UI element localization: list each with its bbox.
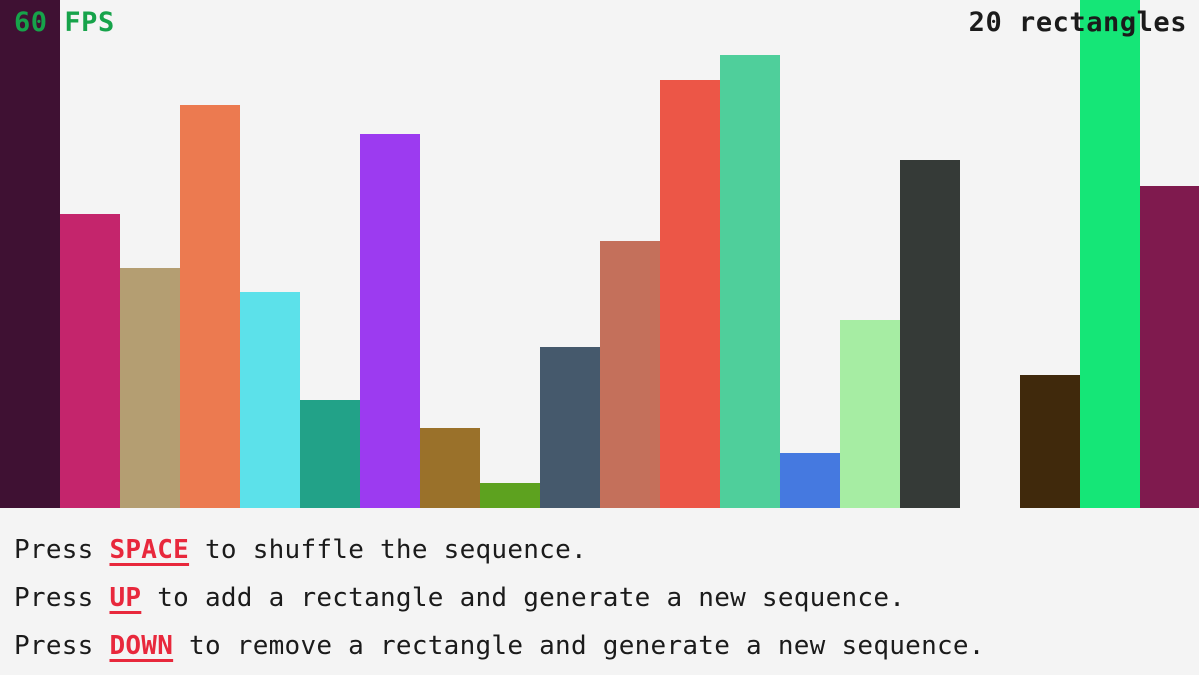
instruction-suffix: to remove a rectangle and generate a new… [173, 631, 985, 661]
chart-bar-magenta [60, 214, 120, 508]
instruction-prefix: Press [14, 583, 109, 613]
chart-bar-orange [180, 105, 240, 508]
key-hint-space[interactable]: SPACE [109, 535, 189, 565]
instruction-line-1: Press SPACE to shuffle the sequence. [0, 526, 1199, 574]
fps-counter: 60 FPS [14, 9, 115, 36]
chart-bar-cyan [240, 292, 300, 508]
chart-bar-brown [420, 428, 480, 508]
chart-bar-tan [120, 268, 180, 508]
instruction-prefix: Press [14, 535, 109, 565]
instructions-panel: Press SPACE to shuffle the sequence.Pres… [0, 508, 1199, 675]
instruction-suffix: to shuffle the sequence. [189, 535, 587, 565]
bar-chart-canvas[interactable] [0, 0, 1199, 508]
key-hint-down[interactable]: DOWN [109, 631, 173, 661]
chart-bar-charcoal [900, 160, 960, 508]
key-hint-up[interactable]: UP [109, 583, 141, 613]
chart-bar-dark-plum [0, 0, 60, 508]
chart-bar-spring-green [1080, 0, 1140, 508]
chart-bar-red [660, 80, 720, 508]
chart-bar-purple [360, 134, 420, 508]
chart-bar-blue [780, 453, 840, 508]
chart-bar-light-green [840, 320, 900, 508]
rectangle-visualizer-app: 60 FPS 20 rectangles Press SPACE to shuf… [0, 0, 1199, 675]
rectangle-count-label: 20 rectangles [969, 9, 1187, 36]
chart-bar-dark-brown [1020, 375, 1080, 508]
chart-bar-mint [720, 55, 780, 508]
instruction-line-2: Press UP to add a rectangle and generate… [0, 574, 1199, 622]
chart-bar-olive-green [480, 483, 540, 508]
chart-bar-teal [300, 400, 360, 508]
instruction-prefix: Press [14, 631, 109, 661]
chart-bar-dark-magenta [1140, 186, 1199, 508]
instruction-suffix: to add a rectangle and generate a new se… [141, 583, 905, 613]
chart-bar-terracotta [600, 241, 660, 508]
instruction-line-3: Press DOWN to remove a rectangle and gen… [0, 622, 1199, 670]
chart-bar-slate-blue [540, 347, 600, 508]
